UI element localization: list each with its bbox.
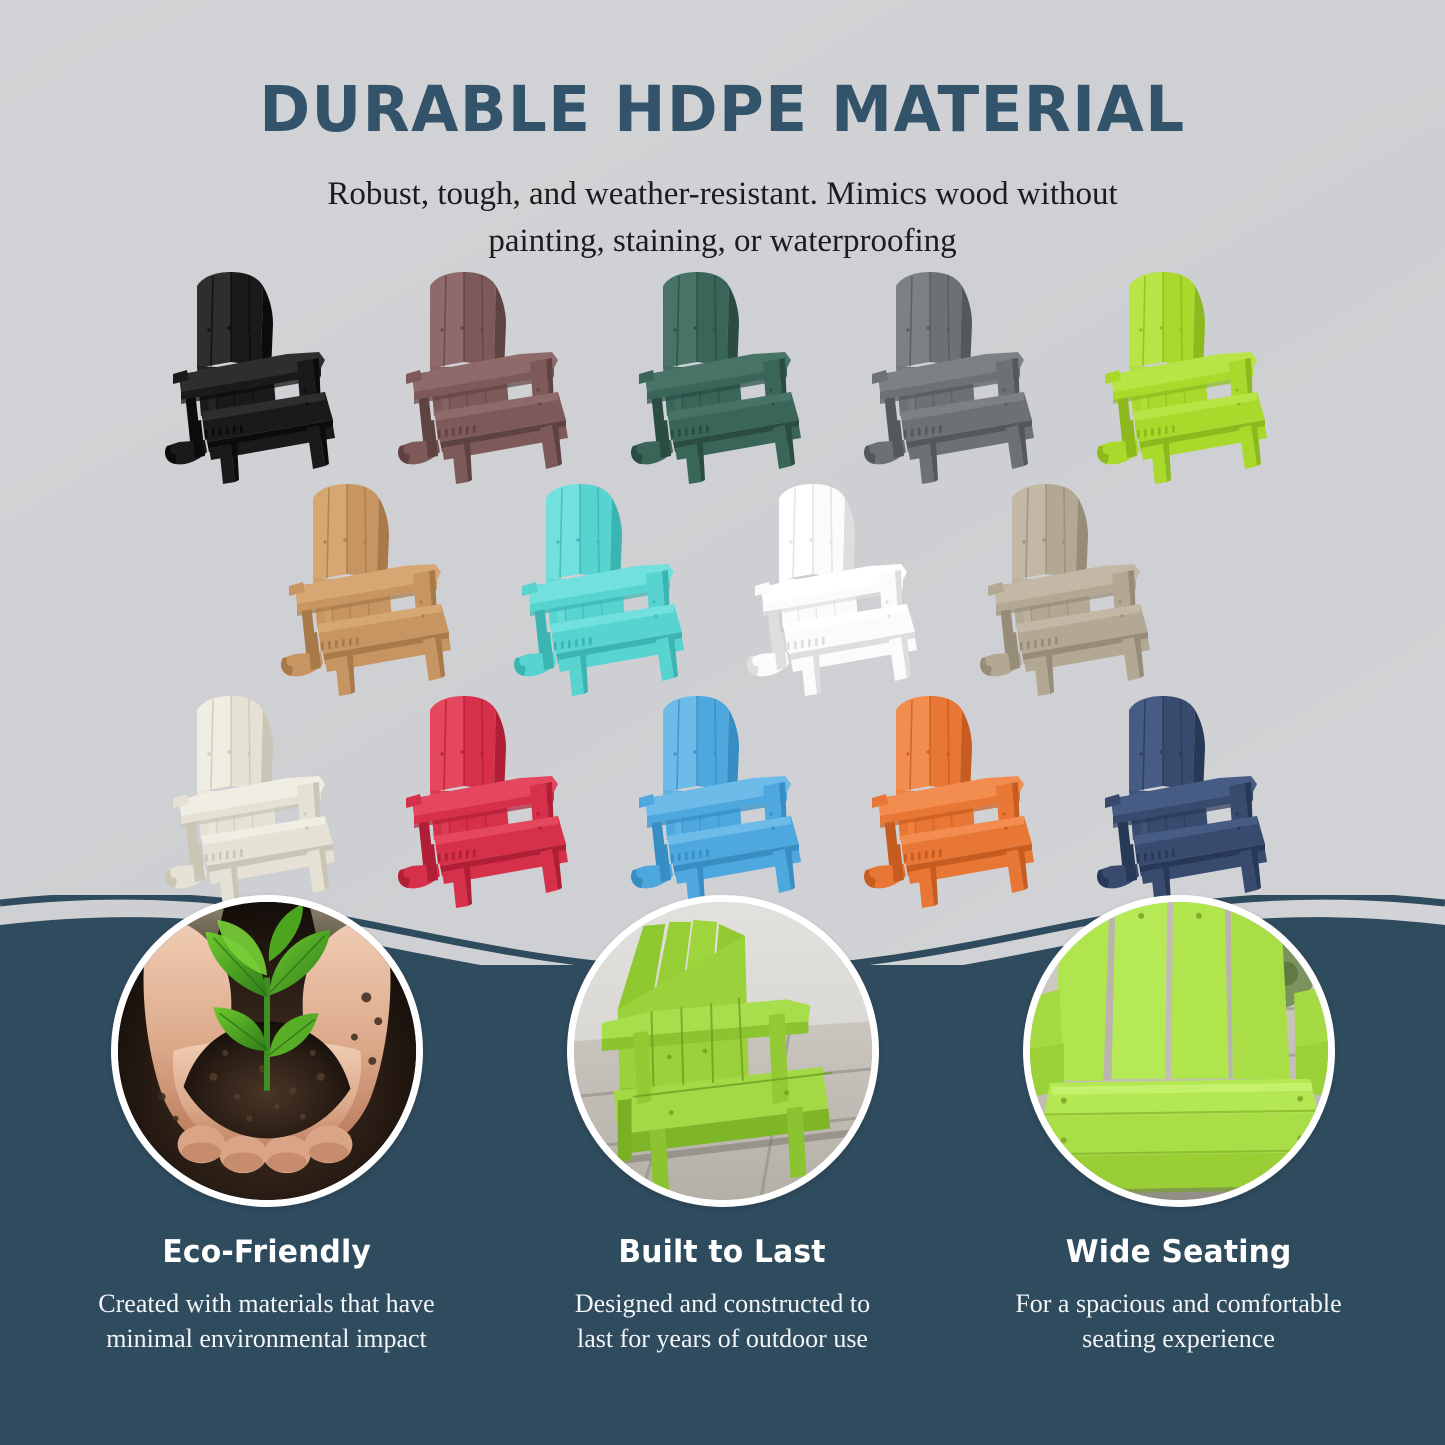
chair-swatch-light-blue[interactable]: [606, 694, 839, 912]
wide-seat-closeup-icon: [1030, 902, 1328, 1200]
chair-swatch-red[interactable]: [373, 694, 606, 912]
header: DURABLE HDPE MATERIAL Robust, tough, and…: [0, 0, 1445, 265]
chair-swatch-orange[interactable]: [839, 694, 1072, 912]
chair-swatch-lime-green[interactable]: [1072, 270, 1305, 488]
feature-title-built-to-last: Built to Last: [619, 1234, 826, 1270]
feature-desc-wide-seating: For a spacious and comfortable seating e…: [976, 1286, 1381, 1357]
adirondack-chair-red: [390, 694, 590, 909]
subtitle-line-1: Robust, tough, and weather-resistant. Mi…: [223, 171, 1223, 218]
feature-desc-line-1: Created with materials that have: [64, 1286, 469, 1321]
chair-row-3: [0, 694, 1445, 912]
adirondack-chair-lime-green: [1089, 270, 1289, 485]
chair-swatch-ivory[interactable]: [140, 694, 373, 912]
feature-desc-line-2: last for years of outdoor use: [520, 1321, 925, 1356]
chair-row-1: [0, 270, 1445, 488]
page-title: DURABLE HDPE MATERIAL: [22, 78, 1424, 141]
chair-swatch-navy[interactable]: [1072, 694, 1305, 912]
adirondack-chair-taupe: [972, 482, 1172, 697]
chair-swatch-brown[interactable]: [373, 270, 606, 488]
hands-holding-soil-icon: [118, 902, 416, 1200]
feature-eco-friendly: Eco-Friendly Created with materials that…: [57, 895, 477, 1357]
chair-swatch-dark-green[interactable]: [606, 270, 839, 488]
feature-desc-built-to-last: Designed and constructed to last for yea…: [520, 1286, 925, 1357]
subtitle-line-2: painting, staining, or waterproofing: [223, 218, 1223, 265]
adirondack-chair-brown: [390, 270, 590, 485]
adirondack-chair-turquoise: [506, 482, 706, 697]
green-chair-on-patio-icon: [574, 902, 872, 1200]
adirondack-chair-orange: [856, 694, 1056, 909]
feature-image-wide-seating: [1023, 895, 1335, 1207]
adirondack-chair-teak-tan: [273, 482, 473, 697]
feature-desc-line-2: seating experience: [976, 1321, 1381, 1356]
chair-swatch-gray[interactable]: [839, 270, 1072, 488]
chair-swatch-taupe[interactable]: [956, 482, 1189, 700]
adirondack-chair-navy: [1089, 694, 1289, 909]
adirondack-chair-black: [157, 270, 357, 485]
adirondack-chair-ivory: [157, 694, 357, 909]
feature-wide-seating: Wide Seating For a spacious and comforta…: [969, 895, 1389, 1357]
chair-color-grid: [0, 270, 1445, 930]
feature-desc-eco-friendly: Created with materials that have minimal…: [64, 1286, 469, 1357]
adirondack-chair-light-blue: [623, 694, 823, 909]
infographic-poster: DURABLE HDPE MATERIAL Robust, tough, and…: [0, 0, 1445, 1445]
adirondack-chair-gray: [856, 270, 1056, 485]
feature-image-eco-friendly: [111, 895, 423, 1207]
adirondack-chair-white: [739, 482, 939, 697]
feature-image-built-to-last: [567, 895, 879, 1207]
feature-desc-line-1: For a spacious and comfortable: [976, 1286, 1381, 1321]
feature-built-to-last: Built to Last Designed and constructed t…: [513, 895, 933, 1357]
chair-swatch-black[interactable]: [140, 270, 373, 488]
page-subtitle: Robust, tough, and weather-resistant. Mi…: [223, 171, 1223, 265]
chair-row-2: [0, 482, 1445, 700]
chair-swatch-white[interactable]: [723, 482, 956, 700]
chair-swatch-teak-tan[interactable]: [257, 482, 490, 700]
adirondack-chair-dark-green: [623, 270, 823, 485]
chair-swatch-turquoise[interactable]: [490, 482, 723, 700]
feature-desc-line-1: Designed and constructed to: [520, 1286, 925, 1321]
feature-title-eco-friendly: Eco-Friendly: [162, 1234, 371, 1270]
feature-list: Eco-Friendly Created with materials that…: [0, 885, 1445, 1445]
feature-title-wide-seating: Wide Seating: [1066, 1234, 1292, 1270]
feature-desc-line-2: minimal environmental impact: [64, 1321, 469, 1356]
